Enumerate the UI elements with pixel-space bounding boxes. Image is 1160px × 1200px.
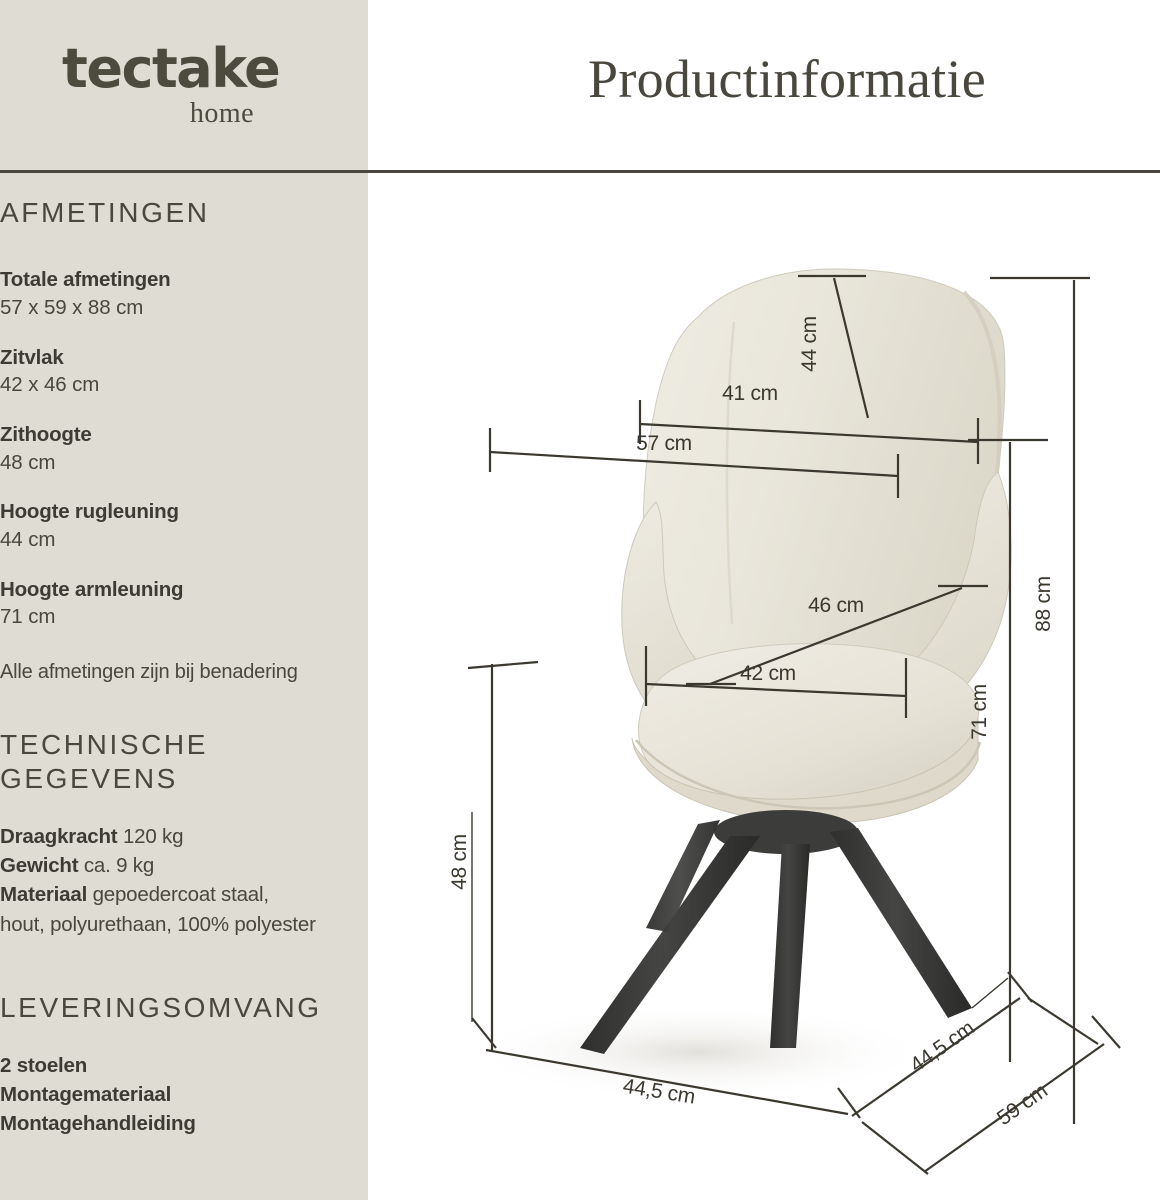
tech-row: Gewicht ca. 9 kg (0, 851, 368, 880)
tech-value: gepoedercoat staal, (93, 883, 269, 906)
dim-label-seat-depth: 46 cm (808, 594, 864, 617)
spec-value: 48 cm (0, 449, 368, 477)
page-title: Productinformatie (588, 48, 986, 110)
delivery-item: Montagehandleiding (0, 1109, 368, 1138)
spec-row: Zithoogte 48 cm (0, 421, 368, 476)
floor-shadow (463, 1004, 933, 1100)
spec-row: Zitvlak 42 x 46 cm (0, 344, 368, 399)
brand-logo: tectake home (62, 42, 342, 130)
tech-material-continued: hout, polyurethaan, 100% polyester (0, 910, 368, 939)
spec-label: Hoogte rugleuning (0, 498, 368, 526)
section-heading-technical: TECHNISCHE GEGEVENS (0, 728, 368, 796)
delivery-item: 2 stoelen (0, 1051, 368, 1080)
tech-row: Draagkracht 120 kg (0, 822, 368, 851)
dim-label-total-depth: 59 cm (993, 1079, 1052, 1130)
section-heading-delivery: LEVERINGSOMVANG (0, 991, 368, 1025)
logo-wordmark: tectake (62, 42, 342, 96)
dim-label-backrest-height: 44 cm (798, 316, 821, 372)
dim-label-total-height: 88 cm (1032, 576, 1055, 632)
spec-label: Zitvlak (0, 344, 368, 372)
spec-label: Zithoogte (0, 421, 368, 449)
spec-row: Totale afmetingen 57 x 59 x 88 cm (0, 266, 368, 321)
dim-label-total-width: 57 cm (636, 432, 692, 455)
tech-label: Materiaal (0, 883, 87, 906)
section-heading-dimensions: AFMETINGEN (0, 196, 368, 230)
spec-value: 57 x 59 x 88 cm (0, 294, 368, 322)
spec-label: Totale afmetingen (0, 266, 368, 294)
tech-label: Draagkracht (0, 825, 117, 848)
spec-value: 42 x 46 cm (0, 371, 368, 399)
tech-value: 120 kg (123, 825, 183, 848)
spec-row: Hoogte armleuning 71 cm (0, 576, 368, 631)
sidebar-content: AFMETINGEN Totale afmetingen 57 x 59 x 8… (0, 196, 368, 1138)
tech-label: Gewicht (0, 854, 78, 877)
delivery-item: Montagemateriaal (0, 1080, 368, 1109)
spec-value: 44 cm (0, 526, 368, 554)
dim-label-seat-height: 48 cm (448, 834, 471, 890)
dim-label-armrest-height: 71 cm (968, 684, 991, 740)
dimensions-note: Alle afmetingen zijn bij benadering (0, 661, 368, 684)
chair-dimension-diagram: 44 cm 41 cm 57 cm 46 cm 42 cm 48 cm 71 c… (368, 172, 1160, 1200)
dim-label-seat-width: 42 cm (740, 662, 796, 685)
leg-back-right (830, 828, 972, 1018)
tech-row: Materiaal gepoedercoat staal, (0, 880, 368, 909)
tech-value: ca. 9 kg (84, 854, 154, 877)
spec-value: 71 cm (0, 603, 368, 631)
spec-row: Hoogte rugleuning 44 cm (0, 498, 368, 553)
spec-label: Hoogte armleuning (0, 576, 368, 604)
dim-label-backrest-width: 41 cm (722, 382, 778, 405)
logo-subtitle: home (62, 98, 342, 130)
